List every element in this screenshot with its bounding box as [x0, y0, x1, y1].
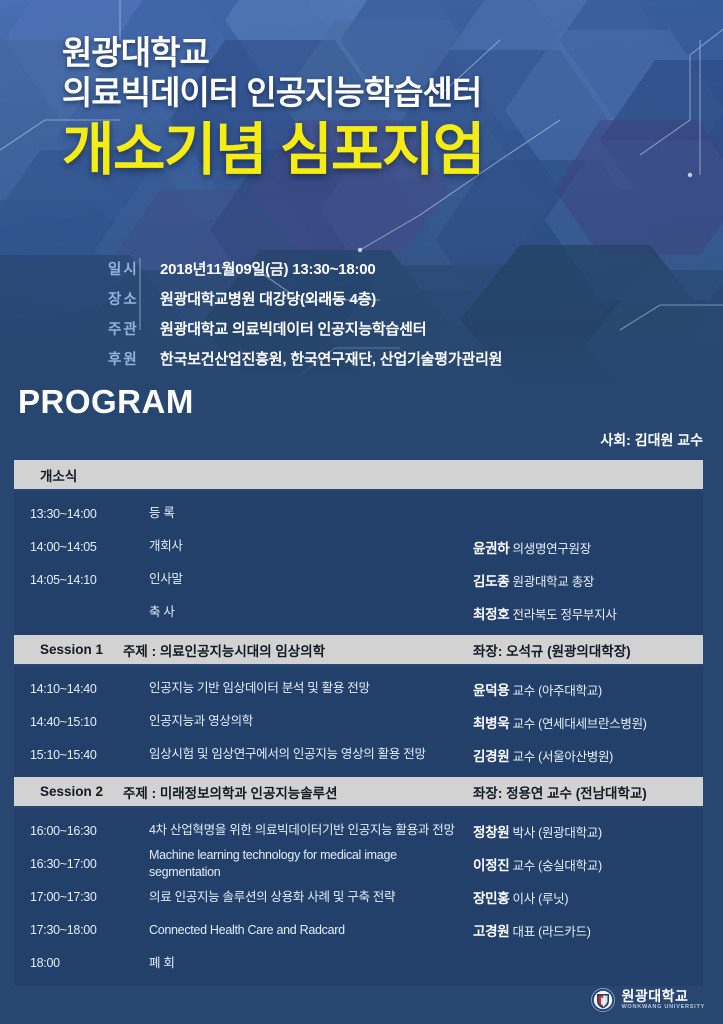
row-title: 인공지능 기반 임상데이터 분석 및 활용 전망 — [149, 680, 473, 697]
info-row-sponsor: 후원 한국보건산업진흥원, 한국연구재단, 산업기술평가관리원 — [108, 348, 502, 369]
table-row: 축 사 최정호 전라북도 정무부지사 — [14, 596, 703, 629]
table-row: 15:10~15:40 임상시험 및 임상연구에서의 인공지능 영상의 활용 전… — [14, 738, 703, 771]
row-speaker: 윤권하 의생명연구원장 — [473, 537, 703, 557]
info-label: 일시 — [108, 258, 160, 279]
row-time: 14:10~14:40 — [14, 682, 149, 696]
info-value: 원광대학교 의료빅데이터 인공지능학습센터 — [160, 318, 426, 339]
row-time: 14:05~14:10 — [14, 573, 149, 587]
row-time: 14:40~15:10 — [14, 715, 149, 729]
org-line-1: 원광대학교 — [62, 34, 702, 72]
row-time: 17:30~18:00 — [14, 923, 149, 937]
table-row: 13:30~14:00 등 록 — [14, 497, 703, 530]
row-time: 17:00~17:30 — [14, 890, 149, 904]
row-time: 15:10~15:40 — [14, 748, 149, 762]
table-row: 14:40~15:10 인공지능과 영상의학 최병욱 교수 (연세대세브란스병원… — [14, 705, 703, 738]
speaker-role: 교수 (연세대세브란스병원) — [509, 717, 646, 731]
table-row: 16:30~17:00 Machine learning technology … — [14, 847, 703, 881]
logo-text-block: 원광대학교 WONKWANG UNIVERSITY — [621, 989, 705, 1011]
speaker-role: 교수 (숭실대학교) — [509, 859, 601, 873]
section-chair: 좌장: 오석규 (원광의대학장) — [473, 640, 703, 660]
speaker-role: 원광대학교 총장 — [509, 575, 594, 589]
speaker-name: 이정진 — [473, 858, 509, 873]
info-value: 2018년11월09일(금) 13:30~18:00 — [160, 258, 376, 279]
section-title: 개소식 — [14, 465, 123, 485]
info-label: 장소 — [108, 288, 160, 309]
row-title: 4차 산업혁명을 위한 의료빅데이터기반 인공지능 활용과 전망 — [149, 822, 473, 839]
speaker-name: 윤덕용 — [473, 683, 509, 698]
row-title: 인사말 — [149, 571, 473, 588]
section-header-session-1: Session 1 주제 : 의료인공지능시대의 임상의학 좌장: 오석규 (원… — [14, 635, 703, 664]
moderator-label: 사회: 김대원 교수 — [600, 430, 703, 450]
info-value: 한국보건산업진흥원, 한국연구재단, 산업기술평가관리원 — [160, 348, 502, 369]
speaker-role: 의생명연구원장 — [509, 542, 591, 556]
row-speaker: 고경원 대표 (라드카드) — [473, 920, 703, 940]
row-speaker: 윤덕용 교수 (아주대학교) — [473, 679, 703, 699]
row-title: 등 록 — [149, 505, 473, 522]
speaker-role: 박사 (원광대학교) — [509, 826, 601, 840]
logo-name-en: WONKWANG UNIVERSITY — [621, 1005, 705, 1011]
speaker-name: 최병욱 — [473, 716, 509, 731]
org-line-2: 의료빅데이터 인공지능학습센터 — [62, 74, 702, 112]
info-row-datetime: 일시 2018년11월09일(금) 13:30~18:00 — [108, 258, 502, 279]
speaker-role: 대표 (라드카드) — [509, 925, 590, 939]
row-title: Connected Health Care and Radcard — [149, 922, 473, 939]
info-row-host: 주관 원광대학교 의료빅데이터 인공지능학습센터 — [108, 318, 502, 339]
speaker-role: 이사 (루닛) — [509, 892, 568, 906]
event-info-list: 일시 2018년11월09일(금) 13:30~18:00 장소 원광대학교병원… — [108, 258, 502, 378]
speaker-role: 교수 (아주대학교) — [509, 684, 601, 698]
section-topic: 주제 : 의료인공지능시대의 임상의학 — [123, 640, 473, 660]
row-speaker: 최정호 전라북도 정무부지사 — [473, 603, 703, 623]
speaker-name: 윤권하 — [473, 541, 509, 556]
row-title: 임상시험 및 임상연구에서의 인공지능 영상의 활용 전망 — [149, 746, 473, 763]
section-title: Session 2 — [14, 784, 123, 799]
section-rows-opening: 13:30~14:00 등 록 14:00~14:05 개회사 윤권하 의생명연… — [14, 491, 703, 635]
page-title: 개소기념 심포지엄 — [62, 119, 702, 183]
poster-title-block: 원광대학교 의료빅데이터 인공지능학습센터 개소기념 심포지엄 — [62, 34, 702, 182]
info-value: 원광대학교병원 대강당(외래동 4층) — [160, 288, 376, 309]
row-speaker: 장민홍 이사 (루닛) — [473, 887, 703, 907]
footer-logo: 원광대학교 WONKWANG UNIVERSITY — [591, 988, 705, 1012]
row-title: 개회사 — [149, 538, 473, 555]
table-row: 18:00 폐 회 — [14, 947, 703, 980]
row-speaker: 최병욱 교수 (연세대세브란스병원) — [473, 712, 703, 732]
row-title: Machine learning technology for medical … — [149, 847, 473, 881]
university-crest-icon — [591, 988, 615, 1012]
info-label: 후원 — [108, 348, 160, 369]
speaker-name: 최정호 — [473, 607, 509, 622]
row-speaker: 정창원 박사 (원광대학교) — [473, 821, 703, 841]
table-row: 14:05~14:10 인사말 김도종 원광대학교 총장 — [14, 563, 703, 596]
speaker-role: 전라북도 정무부지사 — [509, 608, 616, 622]
row-time: 14:00~14:05 — [14, 540, 149, 554]
row-title: 의료 인공지능 솔루션의 상용화 사례 및 구축 전략 — [149, 889, 473, 906]
section-header-opening: 개소식 — [14, 460, 703, 489]
info-label: 주관 — [108, 318, 160, 339]
speaker-name: 고경원 — [473, 924, 509, 939]
speaker-name: 장민홍 — [473, 891, 509, 906]
program-heading: PROGRAM — [18, 383, 194, 421]
speaker-name: 김도종 — [473, 574, 509, 589]
row-title: 축 사 — [149, 604, 473, 621]
section-topic: 주제 : 미래정보의학과 인공지능솔루션 — [123, 782, 473, 802]
logo-name-kr: 원광대학교 — [621, 989, 705, 1003]
table-row: 16:00~16:30 4차 산업혁명을 위한 의료빅데이터기반 인공지능 활용… — [14, 814, 703, 847]
table-row: 17:00~17:30 의료 인공지능 솔루션의 상용화 사례 및 구축 전략 … — [14, 881, 703, 914]
info-row-venue: 장소 원광대학교병원 대강당(외래동 4층) — [108, 288, 502, 309]
table-row: 14:10~14:40 인공지능 기반 임상데이터 분석 및 활용 전망 윤덕용… — [14, 672, 703, 705]
row-title: 인공지능과 영상의학 — [149, 713, 473, 730]
table-row: 17:30~18:00 Connected Health Care and Ra… — [14, 914, 703, 947]
section-rows-session-2: 16:00~16:30 4차 산업혁명을 위한 의료빅데이터기반 인공지능 활용… — [14, 808, 703, 986]
row-time: 18:00 — [14, 956, 149, 970]
program-table: 개소식 13:30~14:00 등 록 14:00~14:05 개회사 윤권하 … — [14, 460, 703, 986]
row-time: 16:00~16:30 — [14, 824, 149, 838]
speaker-name: 김경원 — [473, 749, 509, 764]
section-rows-session-1: 14:10~14:40 인공지능 기반 임상데이터 분석 및 활용 전망 윤덕용… — [14, 666, 703, 777]
row-time: 16:30~17:00 — [14, 857, 149, 871]
speaker-name: 정창원 — [473, 825, 509, 840]
section-chair: 좌장: 정용연 교수 (전남대학교) — [473, 782, 703, 802]
row-speaker: 이정진 교수 (숭실대학교) — [473, 854, 703, 874]
table-row: 14:00~14:05 개회사 윤권하 의생명연구원장 — [14, 530, 703, 563]
section-header-session-2: Session 2 주제 : 미래정보의학과 인공지능솔루션 좌장: 정용연 교… — [14, 777, 703, 806]
speaker-role: 교수 (서울아산병원) — [509, 750, 613, 764]
row-time: 13:30~14:00 — [14, 507, 149, 521]
row-title: 폐 회 — [149, 955, 473, 972]
poster-root: 원광대학교 의료빅데이터 인공지능학습센터 개소기념 심포지엄 일시 2018년… — [0, 0, 723, 1024]
row-speaker: 김도종 원광대학교 총장 — [473, 570, 703, 590]
section-title: Session 1 — [14, 642, 123, 657]
row-speaker: 김경원 교수 (서울아산병원) — [473, 745, 703, 765]
